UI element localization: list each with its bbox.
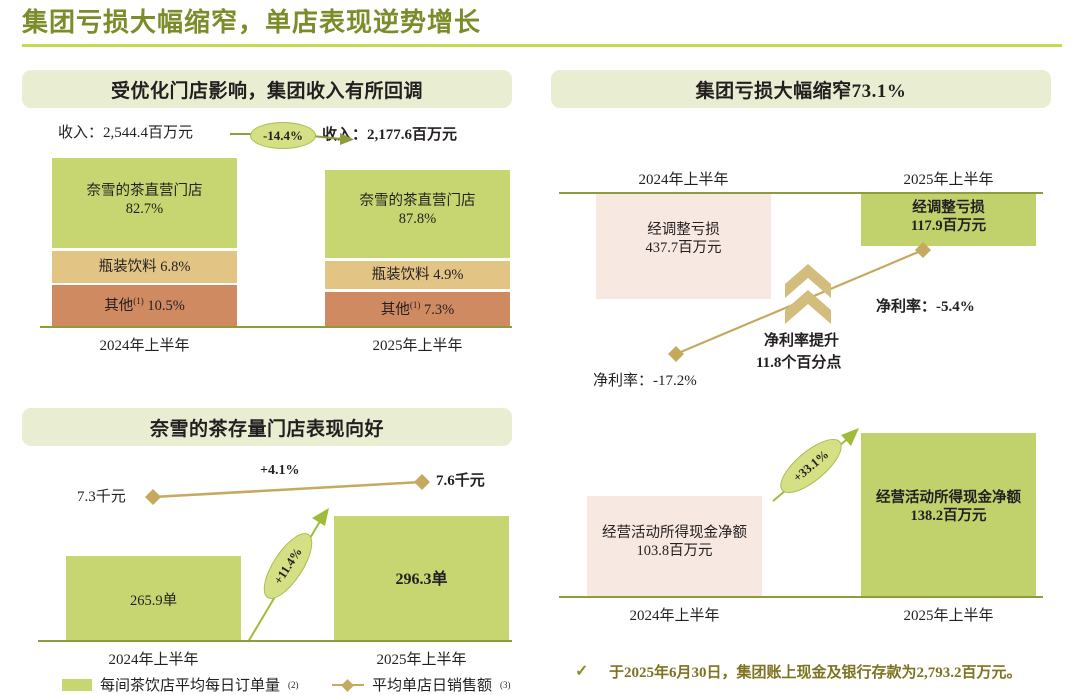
stores-category-2025: 2025年上半年 [334,648,509,669]
panel-cash: 经营活动所得现金净额 103.8百万元 经营活动所得现金净额 138.2百万元 … [551,408,1051,689]
revenue-bar-2024-seg-other-label: 其他(1) 10.5% [52,296,237,315]
panel-cash-plot: 经营活动所得现金净额 103.8百万元 经营活动所得现金净额 138.2百万元 … [551,408,1051,689]
revenue-delta-badge: -14.4% [250,122,316,149]
loss-improvement-chevron-icon [783,262,843,324]
panel-stores-heading: 奈雪的茶存量门店表现向好 [22,408,512,446]
page-title: 集团亏损大幅缩窄，单店表现逆势增长 [22,2,481,39]
stores-legend-bar-label: 每间茶饮店平均每日订单量 [100,674,280,695]
revenue-bar-2025-seg-bottled-label: 瓶装饮料 4.9% [325,266,510,284]
stores-axis-baseline [38,640,512,642]
stores-legend-line-label: 平均单店日销售额 [372,674,492,695]
cash-axis-baseline [559,596,1043,598]
cash-category-2024: 2024年上半年 [587,604,762,625]
revenue-bar-2025-seg-other: 其他(1) 7.3% [325,292,510,326]
panel-revenue-plot: 收入：2,544.4百万元 收入：2,177.6百万元 -14.4% 奈雪的茶直… [22,114,512,370]
slide-root: 集团亏损大幅缩窄，单店表现逆势增长 受优化门店影响，集团收入有所回调 收入：2,… [0,0,1080,689]
revenue-bar-2024-seg-bottled-label: 瓶装饮料 6.8% [52,258,237,276]
panel-revenue: 受优化门店影响，集团收入有所回调 收入：2,544.4百万元 收入：2,177.… [22,70,512,370]
cash-category-2025: 2025年上半年 [861,604,1036,625]
revenue-axis-baseline [40,326,512,328]
loss-improvement-line-2: 11.8个百分点 [756,354,841,374]
stores-legend-bar: 每间茶饮店平均每日订单量(2) [62,674,299,695]
revenue-bar-2025-seg-stores-label: 奈雪的茶直营门店 87.8% [325,192,510,228]
revenue-category-2025: 2025年上半年 [325,334,510,355]
loss-improvement-line-1: 净利率提升 [764,332,839,352]
revenue-bar-2025-seg-bottled: 瓶装饮料 4.9% [325,261,510,289]
revenue-bar-2025-seg-other-label: 其他(1) 7.3% [325,300,510,319]
cash-footnote-check-icon: ✓ [575,661,588,681]
panel-stores-plot: 7.3千元 7.6千元 +4.1% 265.9单 296.3单 +11.4% [22,452,512,689]
cash-growth-arrow-icon [551,408,1051,689]
stores-footnote-marker-2: (2) [288,680,299,690]
panel-loss-plot: 2024年上半年 2025年上半年 经调整亏损 437.7百万元 经调整亏损 1… [551,114,1051,390]
revenue-bar-2024-seg-stores-label: 奈雪的茶直营门店 82.7% [52,182,237,218]
revenue-bar-2024-seg-bottled: 瓶装饮料 6.8% [52,251,237,283]
title-divider [22,44,1062,47]
panel-loss-heading: 集团亏损大幅缩窄73.1% [551,70,1051,108]
panel-stores: 奈雪的茶存量门店表现向好 7.3千元 7.6千元 +4.1% 265.9单 29… [22,408,512,689]
stores-legend-line: 平均单店日销售额(3) [332,674,511,695]
stores-category-2024: 2024年上半年 [66,648,241,669]
cash-footnote-text: 于2025年6月30日，集团账上现金及银行存款为2,793.2百万元。 [609,661,1022,682]
revenue-bar-2025-seg-stores: 奈雪的茶直营门店 87.8% [325,170,510,258]
panel-loss: 集团亏损大幅缩窄73.1% 2024年上半年 2025年上半年 经调整亏损 43… [551,70,1051,390]
panel-revenue-heading: 受优化门店影响，集团收入有所回调 [22,70,512,108]
loss-margin-2025: 净利率：-5.4% [876,298,975,318]
revenue-category-2024: 2024年上半年 [52,334,237,355]
stores-footnote-marker-3: (3) [500,680,511,690]
revenue-footnote-marker-2: (1) [410,300,421,310]
revenue-bar-2024-seg-stores: 奈雪的茶直营门店 82.7% [52,158,237,248]
revenue-footnote-marker-1: (1) [133,296,144,306]
loss-margin-2024: 净利率：-17.2% [593,372,697,392]
revenue-bar-2024-seg-other: 其他(1) 10.5% [52,285,237,326]
